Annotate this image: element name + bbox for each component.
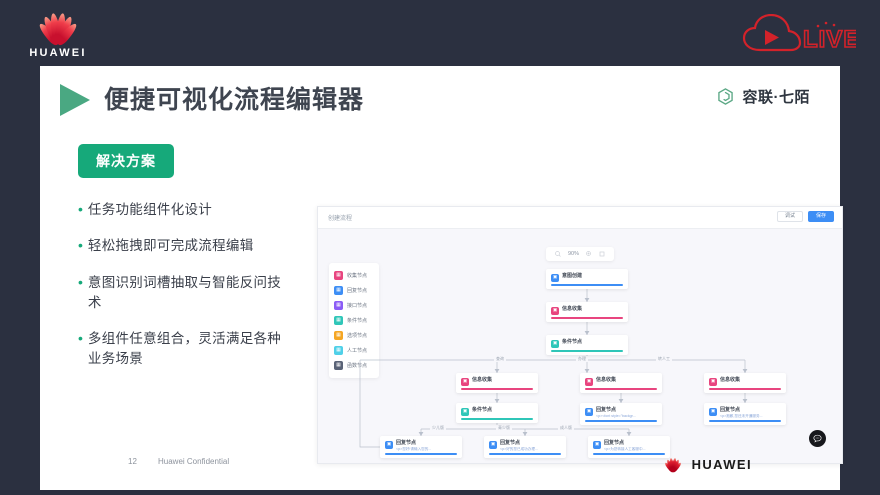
save-button[interactable]: 保存 — [808, 211, 834, 222]
huawei-flower-icon — [660, 458, 686, 472]
arrow-marker-icon — [60, 84, 90, 116]
flow-canvas[interactable]: 90% ▦收集节点▦回复节点▦接口节点▦条件节点▦选项节点▦人工节点▦函数节点 — [318, 229, 842, 464]
bullet-text: 任务功能组件化设计 — [88, 200, 212, 220]
collect-node-icon: ▣ — [551, 307, 559, 315]
bullet-text: 意图识别词槽抽取与智能反问技术 — [88, 273, 288, 314]
title-row: 便捷可视化流程编辑器 — [60, 84, 364, 116]
live-cloud-play-icon: LIVE — [738, 14, 856, 60]
condition-node-icon: ▣ — [551, 340, 559, 348]
brand-name: 容联·七陌 — [743, 86, 811, 107]
flow-node-n8[interactable]: ▣回复节点<p><font style="backgr... — [580, 403, 662, 425]
collect-node-icon: ▣ — [709, 378, 717, 386]
flow-node-accent-bar — [709, 420, 781, 422]
huawei-logo-bottom: HUAWEI — [660, 457, 752, 472]
flow-node-title: 信息收集 — [472, 377, 492, 383]
app-actions: 调试 保存 — [777, 211, 834, 222]
reply-node-icon: ▣ — [585, 408, 593, 416]
edge-label-1: 办理 — [576, 356, 588, 362]
collect-node-icon: ▣ — [461, 378, 469, 386]
condition-node-icon: ▣ — [461, 408, 469, 416]
flow-node-n6[interactable]: ▣信息收集 — [704, 373, 786, 393]
bullet-list: • 任务功能组件化设计 • 轻松拖拽即可完成流程编辑 • 意图识别词槽抽取与智能… — [78, 200, 288, 370]
bullet-text: 轻松拖拽即可完成流程编辑 — [88, 236, 254, 256]
flow-node-title: 条件节点 — [472, 407, 492, 413]
hexagon-logo-icon — [716, 87, 735, 106]
flow-node-title: 意图创建 — [562, 273, 582, 279]
list-item: • 多组件任意组合，灵活满足各种业务场景 — [78, 329, 288, 370]
flow-node-accent-bar — [385, 453, 457, 455]
play-icon: ▣ — [551, 274, 559, 282]
app-title: 创建流程 — [328, 213, 352, 222]
flow-node-title: 信息收集 — [596, 377, 616, 383]
brand-logo: 容联·七陌 — [716, 86, 811, 107]
edge-label-0: 查询 — [494, 356, 506, 362]
reply-node-icon: ▣ — [593, 441, 601, 449]
flow-node-accent-bar — [489, 453, 561, 455]
edge-label-2: 转人工 — [656, 356, 672, 362]
flow-node-n1[interactable]: ▣意图创建 — [546, 269, 628, 289]
edge-label-5: 成人版 — [558, 425, 574, 431]
edge-label-4: 青少版 — [496, 425, 512, 431]
flow-node-title: 回复节点 — [596, 407, 636, 413]
slide-background: HUAWEI LIVE 便捷可视化流程编辑器 容联·七陌 解决方案 — [0, 0, 880, 495]
flow-node-title: 回复节点 — [396, 440, 431, 446]
bullet-text: 多组件任意组合，灵活满足各种业务场景 — [88, 329, 288, 370]
flow-node-subtitle: <p>您好!请输入您的... — [396, 447, 431, 451]
flow-node-n2[interactable]: ▣信息收集 — [546, 302, 628, 322]
huawei-wordmark-top: HUAWEI — [22, 47, 94, 59]
flow-node-accent-bar — [461, 388, 533, 390]
flow-node-accent-bar — [709, 388, 781, 390]
flow-node-accent-bar — [585, 420, 657, 422]
flow-node-accent-bar — [585, 388, 657, 390]
flow-node-n9[interactable]: ▣回复节点<p>抱歉,您还未开通服务... — [704, 403, 786, 425]
flow-node-accent-bar — [593, 453, 665, 455]
bullet-dot-icon: • — [78, 238, 83, 256]
flow-node-title: 回复节点 — [500, 440, 538, 446]
page-number: 12 — [128, 457, 137, 466]
flow-node-n4[interactable]: ▣信息收集 — [456, 373, 538, 393]
bullet-dot-icon: • — [78, 275, 83, 314]
svg-text:LIVE: LIVE — [803, 26, 856, 53]
flow-node-accent-bar — [461, 418, 533, 420]
reply-node-icon: ▣ — [709, 408, 717, 416]
reply-node-icon: ▣ — [385, 441, 393, 449]
solution-pill: 解决方案 — [78, 144, 174, 178]
reply-node-icon: ▣ — [489, 441, 497, 449]
flow-node-title: 信息收集 — [562, 306, 582, 312]
flow-node-subtitle: <p>抱歉,您还未开通服务... — [720, 414, 763, 418]
flow-node-n7[interactable]: ▣条件节点 — [456, 403, 538, 423]
flow-node-subtitle: <p>为您转接人工客服中... — [604, 447, 646, 451]
slide-content-card: 便捷可视化流程编辑器 容联·七陌 解决方案 • 任务功能组件化设计 • 轻松拖拽… — [40, 66, 840, 490]
app-topbar: 创建流程 调试 保存 — [318, 207, 842, 229]
flow-node-n5[interactable]: ▣信息收集 — [580, 373, 662, 393]
flow-node-subtitle: <p><font style="backgr... — [596, 414, 636, 418]
flow-node-accent-bar — [551, 317, 623, 319]
flow-node-accent-bar — [551, 284, 623, 286]
chat-bubble-icon[interactable] — [809, 430, 826, 447]
flow-node-title: 条件节点 — [562, 339, 582, 345]
page-title: 便捷可视化流程编辑器 — [104, 88, 364, 113]
flow-node-title: 回复节点 — [720, 407, 763, 413]
list-item: • 意图识别词槽抽取与智能反问技术 — [78, 273, 288, 314]
huawei-flower-icon — [27, 12, 89, 44]
flow-node-n11[interactable]: ▣回复节点<p>好的您已成功办理... — [484, 436, 566, 458]
left-column: 解决方案 • 任务功能组件化设计 • 轻松拖拽即可完成流程编辑 • 意图识别词槽… — [78, 144, 288, 386]
confidential-label: Huawei Confidential — [158, 457, 229, 466]
debug-button[interactable]: 调试 — [777, 211, 803, 222]
flow-node-title: 信息收集 — [720, 377, 740, 383]
flow-node-n3[interactable]: ▣条件节点 — [546, 335, 628, 355]
flow-editor-screenshot: 创建流程 调试 保存 90% — [317, 206, 843, 464]
list-item: • 轻松拖拽即可完成流程编辑 — [78, 236, 288, 256]
list-item: • 任务功能组件化设计 — [78, 200, 288, 220]
collect-node-icon: ▣ — [585, 378, 593, 386]
bullet-dot-icon: • — [78, 331, 83, 370]
huawei-wordmark-bottom: HUAWEI — [692, 457, 752, 472]
huawei-logo-top: HUAWEI — [22, 12, 94, 60]
flow-node-title: 回复节点 — [604, 440, 646, 446]
flow-node-n10[interactable]: ▣回复节点<p>您好!请输入您的... — [380, 436, 462, 458]
flow-node-n12[interactable]: ▣回复节点<p>为您转接人工客服中... — [588, 436, 670, 458]
flow-node-subtitle: <p>好的您已成功办理... — [500, 447, 538, 451]
edge-label-3: 少儿版 — [430, 425, 446, 431]
flow-node-accent-bar — [551, 350, 623, 352]
bullet-dot-icon: • — [78, 202, 83, 220]
